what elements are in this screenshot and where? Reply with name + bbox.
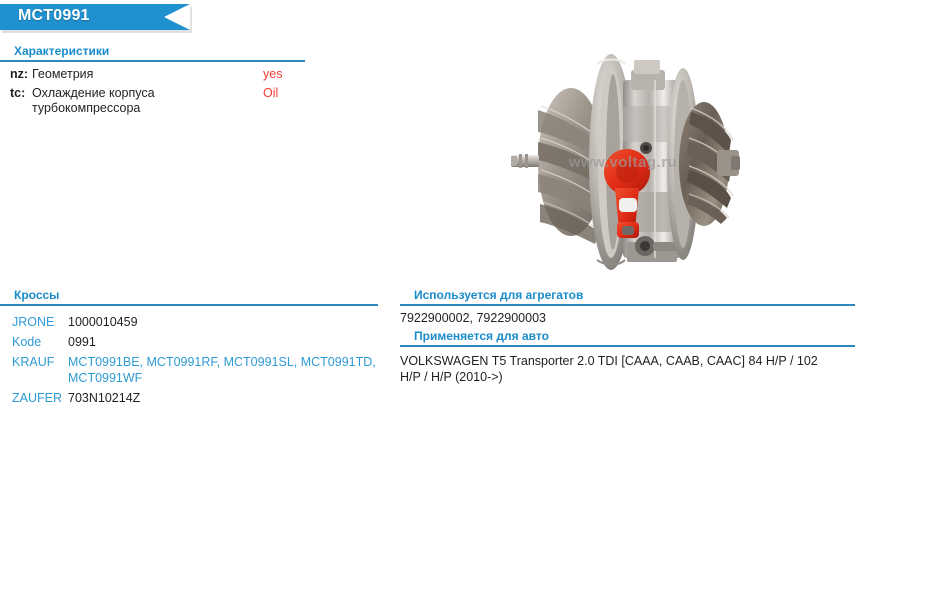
applications-section: Используется для агрегатов 7922900002, 7…: [400, 288, 855, 385]
characteristic-value: Oil: [261, 84, 305, 118]
crosses-divider: [0, 304, 378, 306]
characteristics-divider: [0, 60, 305, 62]
characteristic-label: Геометрия: [32, 65, 261, 84]
crosses-table: JRONE 1000010459 Kode 0991 KRAUF MCT0991…: [0, 312, 378, 408]
characteristics-section: Характеристики nz: Геометрия yes tc: Охл…: [0, 44, 305, 118]
table-row: nz: Геометрия yes: [0, 65, 305, 84]
characteristic-key: nz:: [0, 65, 32, 84]
page-title: MCT0991: [18, 7, 90, 25]
cross-brand[interactable]: Kode: [0, 332, 68, 352]
characteristic-key: tc:: [0, 84, 32, 118]
characteristics-heading: Характеристики: [0, 44, 305, 60]
aggregates-value: 7922900002, 7922900003: [400, 306, 855, 329]
cross-brand[interactable]: KRAUF: [0, 352, 68, 388]
part-number-ribbon: MCT0991: [0, 4, 190, 32]
turbine-wheel: [679, 102, 740, 226]
cross-value: 0991: [68, 332, 378, 352]
cross-brand[interactable]: JRONE: [0, 312, 68, 332]
cross-brand[interactable]: ZAUFER: [0, 388, 68, 408]
crosses-section: Кроссы JRONE 1000010459 Kode 0991 KRAUF …: [0, 288, 378, 408]
characteristic-value: yes: [261, 65, 305, 84]
product-image: www.voltag.ru: [505, 46, 740, 278]
vehicles-heading: Применяется для авто: [400, 329, 855, 345]
cross-value[interactable]: MCT0991BE, MCT0991RF, MCT0991SL, MCT0991…: [68, 352, 378, 388]
aggregates-heading: Используется для агрегатов: [400, 288, 855, 304]
crosses-heading: Кроссы: [0, 288, 378, 304]
table-row: KRAUF MCT0991BE, MCT0991RF, MCT0991SL, M…: [0, 352, 378, 388]
table-row: tc: Охлаждение корпуса турбокомпрессора …: [0, 84, 305, 118]
table-row: Kode 0991: [0, 332, 378, 352]
turbocharger-cartridge-illustration: [505, 46, 740, 278]
cross-value: 703N10214Z: [68, 388, 378, 408]
shaft-nose: [511, 154, 539, 168]
characteristic-label: Охлаждение корпуса турбокомпрессора: [32, 84, 261, 118]
cross-value: 1000010459: [68, 312, 378, 332]
table-row: JRONE 1000010459: [0, 312, 378, 332]
table-row: ZAUFER 703N10214Z: [0, 388, 378, 408]
characteristics-table: nz: Геометрия yes tc: Охлаждение корпуса…: [0, 65, 305, 118]
vehicles-value: VOLKSWAGEN T5 Transporter 2.0 TDI [CAAA,…: [400, 347, 840, 385]
